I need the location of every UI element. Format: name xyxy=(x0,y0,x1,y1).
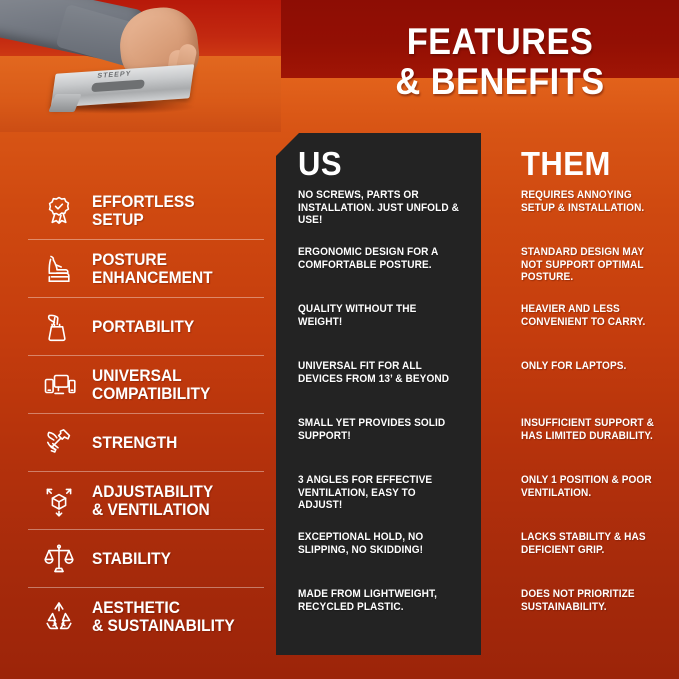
them-row: STANDARD DESIGN MAY NOT SUPPORT OPTIMAL … xyxy=(521,246,673,303)
them-row: REQUIRES ANNOYING SETUP & INSTALLATION. xyxy=(521,189,673,246)
them-row: ONLY FOR LAPTOPS. xyxy=(521,360,673,417)
scales-icon xyxy=(36,542,82,576)
feature-row: POSTUREENHANCEMENT xyxy=(28,239,264,297)
feature-label: POSTUREENHANCEMENT xyxy=(92,251,213,287)
us-column-heading: US xyxy=(298,147,342,181)
recycle-icon xyxy=(36,601,82,633)
row-text: ERGONOMIC DESIGN FOR A COMFORTABLE POSTU… xyxy=(298,246,461,271)
us-row: NO SCREWS, PARTS OR INSTALLATION. JUST U… xyxy=(298,189,470,246)
row-text: INSUFFICIENT SUPPORT & HAS LIMITED DURAB… xyxy=(521,417,665,442)
row-text: NO SCREWS, PARTS OR INSTALLATION. JUST U… xyxy=(298,189,461,227)
feature-label: AESTHETIC& SUSTAINABILITY xyxy=(92,599,235,635)
feature-row: STABILITY xyxy=(28,529,264,587)
feature-label: STRENGTH xyxy=(92,434,177,452)
us-column-panel: US NO SCREWS, PARTS OR INSTALLATION. JUS… xyxy=(276,133,481,655)
hand-bag-icon xyxy=(36,310,82,344)
them-row: DOES NOT PRIORITIZE SUSTAINABILITY. xyxy=(521,588,673,645)
product-photo: STEEPY xyxy=(0,0,281,132)
row-text: MADE FROM LIGHTWEIGHT, RECYCLED PLASTIC. xyxy=(298,588,461,613)
feature-row: STRENGTH xyxy=(28,413,264,471)
feature-label: PORTABILITY xyxy=(92,318,194,336)
page-title: FEATURES & BENEFITS xyxy=(340,22,660,102)
row-text: SMALL YET PROVIDES SOLID SUPPORT! xyxy=(298,417,461,442)
award-badge-icon xyxy=(36,194,82,228)
row-text: ONLY FOR LAPTOPS. xyxy=(521,360,665,373)
us-row: EXCEPTIONAL HOLD, NO SLIPPING, NO SKIDDI… xyxy=(298,531,470,588)
stand-handle-slot xyxy=(91,80,145,93)
row-text: QUALITY WITHOUT THE WEIGHT! xyxy=(298,303,461,328)
feature-row: PORTABILITY xyxy=(28,297,264,355)
hand-hammer-icon xyxy=(36,426,82,460)
us-row: UNIVERSAL FIT FOR ALL DEVICES FROM 13’ &… xyxy=(298,360,470,417)
row-text: ONLY 1 POSITION & POOR VENTILATION. xyxy=(521,474,665,499)
row-text: STANDARD DESIGN MAY NOT SUPPORT OPTIMAL … xyxy=(521,246,665,284)
us-rows: NO SCREWS, PARTS OR INSTALLATION. JUST U… xyxy=(298,189,470,645)
us-row: SMALL YET PROVIDES SOLID SUPPORT! xyxy=(298,417,470,474)
row-text: EXCEPTIONAL HOLD, NO SLIPPING, NO SKIDDI… xyxy=(298,531,461,556)
devices-icon xyxy=(36,368,82,402)
posture-chair-icon xyxy=(36,252,82,286)
feature-label: STABILITY xyxy=(92,550,171,568)
product-brand-logo: STEEPY xyxy=(97,71,132,80)
row-text: UNIVERSAL FIT FOR ALL DEVICES FROM 13’ &… xyxy=(298,360,461,385)
title-line-2: & BENEFITS xyxy=(351,62,649,102)
feature-label: EFFORTLESSSETUP xyxy=(92,193,195,229)
us-row: ERGONOMIC DESIGN FOR A COMFORTABLE POSTU… xyxy=(298,246,470,303)
title-line-1: FEATURES xyxy=(351,22,649,62)
feature-row: UNIVERSALCOMPATIBILITY xyxy=(28,355,264,413)
them-row: LACKS STABILITY & HAS DEFICIENT GRIP. xyxy=(521,531,673,588)
feature-list: EFFORTLESSSETUP POSTUREENHANCEMENT PORTA… xyxy=(28,182,264,645)
feature-row: ADJUSTABILITY& VENTILATION xyxy=(28,471,264,529)
them-rows: REQUIRES ANNOYING SETUP & INSTALLATION.S… xyxy=(521,189,673,645)
them-column-heading: THEM xyxy=(521,147,611,181)
us-row: MADE FROM LIGHTWEIGHT, RECYCLED PLASTIC. xyxy=(298,588,470,645)
us-row: QUALITY WITHOUT THE WEIGHT! xyxy=(298,303,470,360)
feature-label: ADJUSTABILITY& VENTILATION xyxy=(92,483,213,519)
row-text: LACKS STABILITY & HAS DEFICIENT GRIP. xyxy=(521,531,665,556)
us-row: 3 ANGLES FOR EFFECTIVE VENTILATION, EASY… xyxy=(298,474,470,531)
them-row: ONLY 1 POSITION & POOR VENTILATION. xyxy=(521,474,673,531)
row-text: REQUIRES ANNOYING SETUP & INSTALLATION. xyxy=(521,189,665,214)
row-text: DOES NOT PRIORITIZE SUSTAINABILITY. xyxy=(521,588,665,613)
feature-row: AESTHETIC& SUSTAINABILITY xyxy=(28,587,264,645)
feature-label: UNIVERSALCOMPATIBILITY xyxy=(92,367,210,403)
them-row: INSUFFICIENT SUPPORT & HAS LIMITED DURAB… xyxy=(521,417,673,474)
infographic-page: STEEPY FEATURES & BENEFITS EFFORTLESSSET… xyxy=(0,0,679,679)
them-row: HEAVIER AND LESS CONVENIENT TO CARRY. xyxy=(521,303,673,360)
feature-row: EFFORTLESSSETUP xyxy=(28,182,264,239)
row-text: 3 ANGLES FOR EFFECTIVE VENTILATION, EASY… xyxy=(298,474,461,512)
box-arrows-icon xyxy=(36,483,82,519)
row-text: HEAVIER AND LESS CONVENIENT TO CARRY. xyxy=(521,303,665,328)
